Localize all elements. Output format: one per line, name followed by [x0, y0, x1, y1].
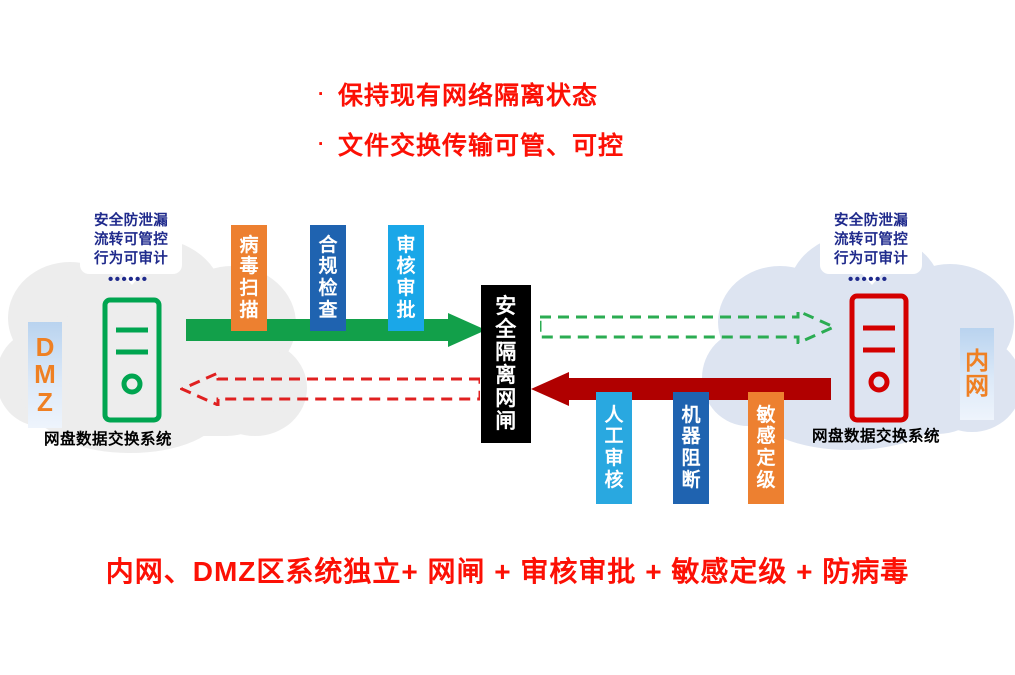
zone-label-dmz: D M Z: [28, 322, 62, 428]
vbar-char: 病: [239, 235, 258, 257]
callout-line: 安全防泄漏: [87, 212, 175, 231]
vbar-char: 审: [604, 448, 623, 470]
right-callout: 安全防泄漏 流转可管控 行为可审计: [820, 206, 922, 274]
right-server-icon: [848, 292, 910, 424]
callout-line: 行为可审计: [87, 250, 175, 269]
vbar-char: 敏: [756, 405, 775, 427]
zone-char: 网: [965, 374, 989, 399]
right-callout-dots: ••••••: [848, 272, 889, 287]
vbar-char: 查: [318, 300, 337, 322]
vbar-char: 描: [239, 300, 258, 322]
bullet-text: 文件交换传输可管、可控: [338, 126, 624, 162]
vbar-char: 合: [318, 235, 337, 257]
left-callout-dots: ••••••: [108, 272, 149, 287]
vbar-char: 级: [756, 470, 775, 492]
left-callout: 安全防泄漏 流转可管控 行为可审计: [80, 206, 182, 274]
vbar-char: 规: [318, 256, 337, 278]
vbar-char: 批: [396, 300, 415, 322]
footer-summary: 内网、DMZ区系统独立+ 网闸 + 审核审批 + 敏感定级 + 防病毒: [0, 550, 1015, 590]
vbar-virus-scan[interactable]: 病 毒 扫 描: [231, 225, 267, 331]
right-system-caption: 网盘数据交换系统: [812, 424, 940, 446]
vbar-char: 毒: [239, 256, 258, 278]
zone-char: D: [36, 334, 55, 361]
left-system-caption: 网盘数据交换系统: [44, 427, 172, 449]
vbar-char: 定: [756, 448, 775, 470]
vbar-char: 扫: [239, 278, 258, 300]
gateway-char: 隔: [495, 341, 517, 364]
zone-char: M: [34, 361, 56, 388]
zone-char: 内: [965, 349, 989, 374]
vbar-machine-blocking[interactable]: 机 器 阻 断: [673, 392, 709, 504]
bullet-item: · 文件交换传输可管、可控: [318, 126, 838, 162]
vbar-char: 断: [681, 470, 700, 492]
gateway-char: 全: [495, 318, 517, 341]
vbar-review-approval[interactable]: 审 核 审 批: [388, 225, 424, 331]
vbar-char: 感: [756, 426, 775, 448]
vbar-char: 工: [604, 426, 623, 448]
callout-line: 流转可管控: [827, 231, 915, 250]
gateway-char: 网: [495, 387, 517, 410]
vbar-sensitivity-grading[interactable]: 敏 感 定 级: [748, 392, 784, 504]
vbar-char: 核: [396, 256, 415, 278]
vbar-char: 机: [681, 405, 700, 427]
bullet-marker: ·: [318, 85, 338, 104]
vbar-char: 检: [318, 278, 337, 300]
zone-label-intranet: 内 网: [960, 328, 994, 420]
left-server-icon: [101, 296, 163, 424]
vbar-char: 人: [604, 405, 623, 427]
vbar-char: 审: [396, 278, 415, 300]
security-gateway-box[interactable]: 安 全 隔 离 网 闸: [481, 285, 531, 443]
gateway-char: 闸: [495, 410, 517, 433]
callout-line: 行为可审计: [827, 250, 915, 269]
bullet-marker: ·: [318, 135, 338, 154]
bullet-list: · 保持现有网络隔离状态 · 文件交换传输可管、可控: [318, 76, 838, 176]
gateway-char: 离: [495, 364, 517, 387]
vbar-char: 器: [681, 426, 700, 448]
inbound-dashed-arrow-left: [180, 372, 480, 406]
vbar-char: 核: [604, 470, 623, 492]
gateway-char: 安: [495, 295, 517, 318]
callout-line: 安全防泄漏: [827, 212, 915, 231]
bullet-item: · 保持现有网络隔离状态: [318, 76, 838, 112]
zone-char: Z: [37, 389, 53, 416]
callout-line: 流转可管控: [87, 231, 175, 250]
bullet-text: 保持现有网络隔离状态: [338, 76, 598, 112]
vbar-char: 阻: [681, 448, 700, 470]
vbar-manual-review[interactable]: 人 工 审 核: [596, 392, 632, 504]
vbar-compliance-check[interactable]: 合 规 检 查: [310, 225, 346, 331]
outbound-dashed-arrow-right: [540, 310, 836, 344]
vbar-char: 审: [396, 235, 415, 257]
